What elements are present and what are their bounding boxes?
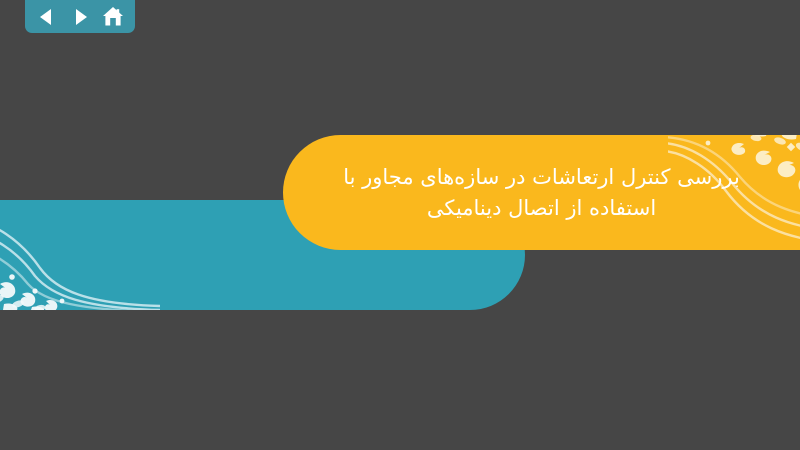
teal-arabesque-ornament-icon xyxy=(0,200,160,310)
home-icon xyxy=(102,6,124,27)
yellow-arabesque-ornament-icon xyxy=(668,135,800,250)
triangle-right-icon xyxy=(70,7,90,27)
back-button[interactable] xyxy=(34,5,60,29)
slide-canvas: بررسی کنترل ارتعاشات در سازه‌های مجاور ب… xyxy=(0,0,800,450)
triangle-left-icon xyxy=(37,7,57,27)
forward-button[interactable] xyxy=(67,5,93,29)
navigation-toolbar xyxy=(25,0,135,33)
home-button[interactable] xyxy=(100,5,126,29)
yellow-title-band xyxy=(283,135,800,250)
